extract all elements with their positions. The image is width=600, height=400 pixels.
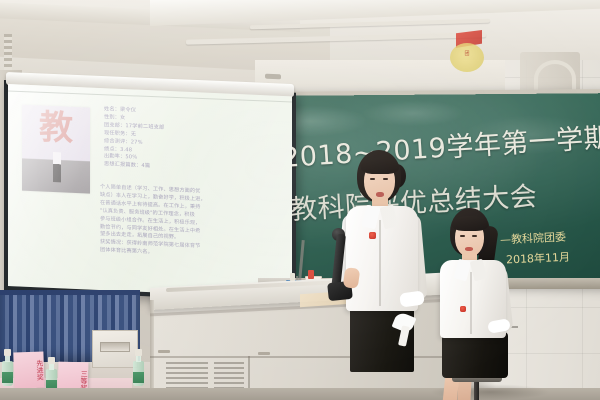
- seated-woman: [432, 208, 524, 400]
- water-bottle-3: [133, 352, 144, 386]
- speaker-badge-pin: [369, 232, 376, 239]
- seated-woman-placket: [470, 272, 472, 334]
- speaker-fringe: [361, 158, 399, 174]
- slide-photo-person: [53, 152, 61, 182]
- slide-paragraph: 个人简单自述（学习、工作、思想方面的优 缺点）本人在学习上，勤奋好学，积极上进，…: [100, 184, 290, 263]
- speaker-cuff-right: [399, 290, 425, 307]
- standing-speaker: [330, 150, 440, 400]
- speaker-eye-left: [370, 178, 375, 180]
- slide-photo-character: 教: [39, 111, 73, 146]
- emblem-label: 团: [453, 50, 481, 57]
- water-bottle: [2, 352, 13, 386]
- cabinet-vent-2: [214, 362, 244, 388]
- stool-post: [474, 380, 479, 400]
- bottle-cap: [135, 349, 141, 356]
- placard-left-text: 先进奖: [14, 355, 45, 384]
- curtain-rail: [0, 290, 140, 295]
- bottle-label: [2, 372, 13, 384]
- bottle-cap: [48, 357, 54, 364]
- slide-field-list: 姓名：梁令仪 性别：女 团支部：17学前二班支部 现任职务：无 综合测评：27%…: [104, 106, 282, 177]
- seated-woman-badge-pin: [460, 306, 466, 312]
- speaker-mouth: [376, 192, 384, 197]
- speaker-eye-right: [383, 178, 388, 180]
- seated-woman-eye-right: [472, 235, 477, 237]
- roller-cap: [265, 74, 281, 80]
- seated-woman-cuff: [487, 318, 511, 334]
- slide-photo: 教: [22, 105, 90, 194]
- bottle-label: [133, 372, 144, 384]
- communist-youth-league-emblem: 团: [448, 30, 488, 74]
- speaker-placket: [379, 220, 381, 306]
- emblem-sun: [450, 43, 484, 72]
- cabinet-latch: [158, 350, 170, 353]
- panel-slot: [100, 342, 130, 352]
- seated-woman-skirt: [442, 332, 508, 378]
- bottle-cap: [4, 349, 10, 356]
- seated-woman-fringe: [452, 216, 488, 231]
- projector-screen: 教 姓名：梁令仪 性别：女 团支部：17学前二班支部 现任职务：无 综合测评：2…: [8, 84, 292, 298]
- seated-woman-eye-left: [460, 235, 465, 237]
- seated-woman-mouth: [465, 247, 473, 251]
- cabinet-latch-2: [258, 352, 270, 355]
- classroom-photo: 团 2018~2019学年第一学期 教科院评优总结大会 —教科院团委 2018年…: [0, 0, 600, 400]
- placard-left: 先进奖: [13, 351, 44, 388]
- cabinet-vent: [166, 362, 208, 388]
